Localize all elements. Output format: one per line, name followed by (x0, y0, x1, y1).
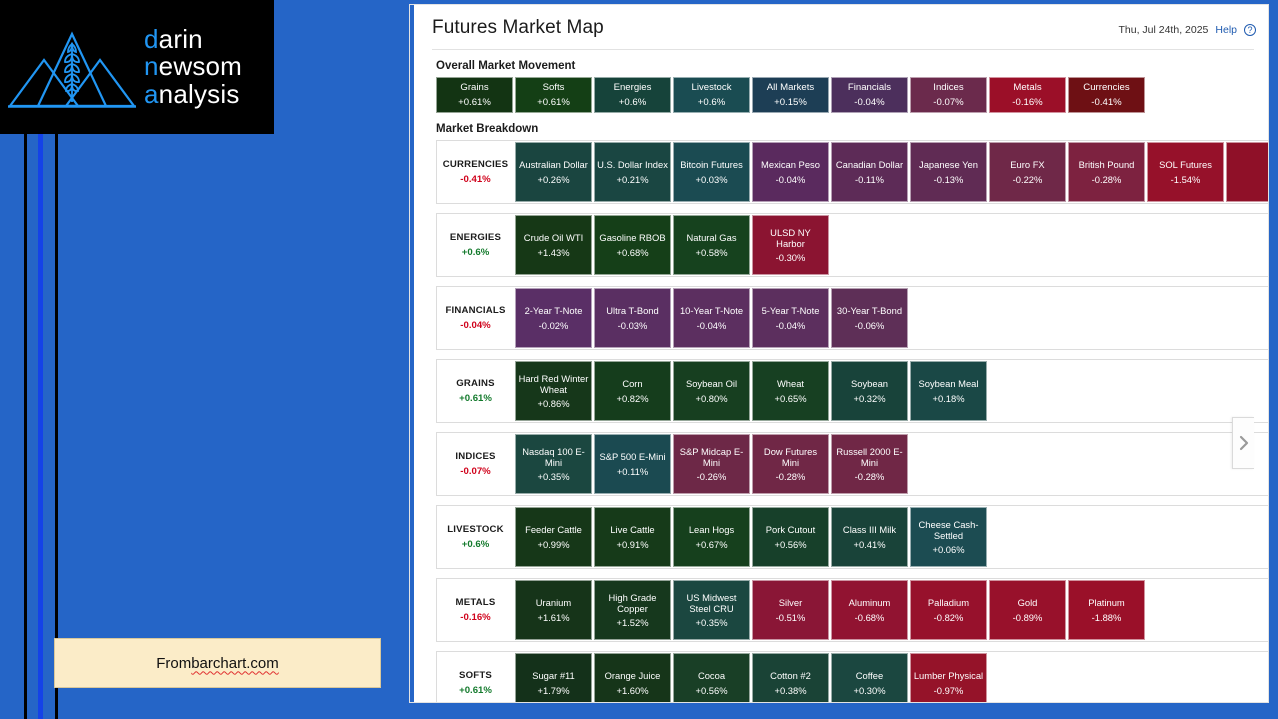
market-tile[interactable]: Silver-0.51% (752, 580, 829, 640)
tile-value: +0.56% (695, 685, 727, 696)
source-site-name: barchart.com (191, 655, 279, 672)
tile-value: +0.6% (698, 97, 725, 108)
market-tile[interactable]: Australian Dollar+0.26% (515, 142, 592, 202)
group-value: +0.61% (459, 685, 492, 697)
tile-value: +0.26% (537, 174, 569, 185)
market-tile[interactable]: Wheat+0.65% (752, 361, 829, 421)
tile-name: Nasdaq 100 E-Mini (518, 446, 589, 468)
brand-line-1-rest: arin (159, 24, 203, 54)
tile-value: -1.54% (1171, 174, 1201, 185)
tile-name: 10-Year T-Note (680, 305, 743, 316)
market-tile[interactable]: Crude Oil WTI+1.43% (515, 215, 592, 275)
page-header: Futures Market Map Thu, Jul 24th, 2025 H… (414, 5, 1268, 49)
market-tile[interactable]: Japanese Yen-0.13% (910, 142, 987, 202)
market-tile[interactable]: Mexican Peso-0.04% (752, 142, 829, 202)
tile-name: Silver (779, 597, 802, 608)
group-name: ENERGIES (450, 232, 501, 244)
breakdown-tiles: 2-Year T-Note-0.02%Ultra T-Bond-0.03%10-… (514, 287, 908, 349)
tile-name: All Markets (767, 82, 814, 93)
tile-name: 5-Year T-Note (762, 305, 820, 316)
market-tile[interactable]: S&P Midcap E-Mini-0.26% (673, 434, 750, 494)
tile-name: Live Cattle (610, 524, 654, 535)
tile-value: -0.04% (776, 174, 806, 185)
market-tile[interactable] (1226, 142, 1268, 202)
tile-name: Lumber Physical (914, 670, 983, 681)
group-name: GRAINS (456, 378, 495, 390)
tile-value: +0.86% (537, 398, 569, 409)
tile-name: Livestock (692, 82, 732, 93)
breakdown-tiles: Australian Dollar+0.26%U.S. Dollar Index… (514, 141, 1268, 203)
tile-name: Pork Cutout (766, 524, 816, 535)
market-tile[interactable]: Sugar #11+1.79% (515, 653, 592, 702)
tile-value: -0.02% (539, 320, 569, 331)
tile-value: +1.43% (537, 247, 569, 258)
tile-value: -0.26% (697, 471, 727, 482)
group-value: -0.41% (460, 174, 490, 186)
market-tile[interactable]: Ultra T-Bond-0.03% (594, 288, 671, 348)
tile-name: Metals (1013, 82, 1041, 93)
breakdown-group-header[interactable]: INDICES-0.07% (437, 433, 514, 495)
tile-value: -0.51% (776, 612, 806, 623)
overall-tile[interactable]: All Markets+0.15% (752, 77, 829, 113)
tile-name: Gasoline RBOB (599, 232, 665, 243)
market-tile[interactable]: U.S. Dollar Index+0.21% (594, 142, 671, 202)
tile-name: Indices (933, 82, 963, 93)
overall-market-label: Overall Market Movement (436, 60, 1268, 72)
breakdown-row: SOFTS+0.61%Sugar #11+1.79%Orange Juice+1… (436, 651, 1268, 702)
report-date: Thu, Jul 24th, 2025 (1118, 24, 1208, 36)
market-tile[interactable]: 10-Year T-Note-0.04% (673, 288, 750, 348)
group-value: -0.04% (460, 320, 490, 332)
tile-value: +1.79% (537, 685, 569, 696)
market-tile[interactable]: Corn+0.82% (594, 361, 671, 421)
tile-name: Ultra T-Bond (606, 305, 658, 316)
group-value: -0.16% (460, 612, 490, 624)
tile-name: SOL Futures (1159, 159, 1212, 170)
brand-wordmark: darin newsom analysis (144, 26, 242, 107)
tile-value: -0.13% (934, 174, 964, 185)
overall-market-row: Grains+0.61%Softs+0.61%Energies+0.6%Live… (436, 77, 1254, 113)
tile-value: +0.80% (695, 393, 727, 404)
tile-value: +0.41% (853, 539, 885, 550)
tile-value: -1.88% (1092, 612, 1122, 623)
market-tile[interactable]: 2-Year T-Note-0.02% (515, 288, 592, 348)
tile-value: -0.16% (1012, 97, 1042, 108)
tile-name: Cheese Cash-Settled (913, 519, 984, 541)
tile-name: Gold (1018, 597, 1038, 608)
tile-name: Natural Gas (686, 232, 736, 243)
tile-name: Coffee (856, 670, 883, 681)
market-tile[interactable]: Soybean+0.32% (831, 361, 908, 421)
group-name: METALS (456, 597, 496, 609)
group-value: +0.6% (462, 247, 489, 259)
market-tile[interactable]: Dow Futures Mini-0.28% (752, 434, 829, 494)
brand-line-3: analysis (144, 81, 242, 108)
market-tile[interactable]: Cotton #2+0.38% (752, 653, 829, 702)
market-tile[interactable]: Russell 2000 E-Mini-0.28% (831, 434, 908, 494)
tile-value: +0.32% (853, 393, 885, 404)
tile-value: -0.04% (776, 320, 806, 331)
brand-line-1-initial: d (144, 24, 159, 54)
source-attribution-box: From barchart.com (54, 638, 381, 688)
tile-name: Class III Milk (843, 524, 896, 535)
market-tile[interactable]: High Grade Copper+1.52% (594, 580, 671, 640)
market-tile[interactable]: British Pound-0.28% (1068, 142, 1145, 202)
breakdown-tiles: Nasdaq 100 E-Mini+0.35%S&P 500 E-Mini+0.… (514, 433, 908, 495)
futures-market-map-panel: Futures Market Map Thu, Jul 24th, 2025 H… (410, 5, 1268, 702)
tile-value: -0.41% (1091, 97, 1121, 108)
market-tile[interactable]: Feeder Cattle+0.99% (515, 507, 592, 567)
tile-value: +0.11% (617, 466, 648, 477)
tile-value: -0.22% (1013, 174, 1043, 185)
breakdown-tiles: Uranium+1.61%High Grade Copper+1.52%US M… (514, 579, 1145, 641)
tile-value: +1.52% (616, 617, 648, 628)
tile-name: Japanese Yen (919, 159, 978, 170)
tile-name: Grains (460, 82, 488, 93)
breakdown-tiles: Sugar #11+1.79%Orange Juice+1.60%Cocoa+0… (514, 652, 987, 702)
tile-value: -0.03% (618, 320, 648, 331)
tile-name: Hard Red Winter Wheat (518, 373, 589, 395)
tile-value: +0.65% (774, 393, 806, 404)
tile-value: +0.35% (695, 617, 727, 628)
breakdown-row: CURRENCIES-0.41%Australian Dollar+0.26%U… (436, 140, 1268, 204)
tile-name: Financials (848, 82, 891, 93)
brand-line-3-rest: nalysis (159, 79, 240, 109)
header-right-group: Thu, Jul 24th, 2025 Help ? (1118, 5, 1256, 36)
breakdown-row: METALS-0.16%Uranium+1.61%High Grade Copp… (436, 578, 1268, 642)
market-tile[interactable]: Class III Milk+0.41% (831, 507, 908, 567)
tile-name: Sugar #11 (532, 670, 575, 681)
tile-value: +0.38% (774, 685, 806, 696)
tile-name: US Midwest Steel CRU (676, 592, 747, 614)
market-tile[interactable]: Lumber Physical-0.97% (910, 653, 987, 702)
group-name: SOFTS (459, 670, 492, 682)
market-tile[interactable]: Gold-0.89% (989, 580, 1066, 640)
market-tile[interactable]: Platinum-1.88% (1068, 580, 1145, 640)
market-tile[interactable]: Bitcoin Futures+0.03% (673, 142, 750, 202)
help-link[interactable]: Help (1215, 24, 1237, 36)
tile-value: -0.30% (776, 252, 806, 263)
brand-line-3-initial: a (144, 79, 159, 109)
market-breakdown-label: Market Breakdown (436, 123, 1268, 135)
tile-value: +0.99% (537, 539, 569, 550)
market-tile[interactable]: Live Cattle+0.91% (594, 507, 671, 567)
tile-value: -0.04% (697, 320, 727, 331)
mountains-wheat-icon (4, 12, 140, 122)
tile-value: -0.28% (776, 471, 806, 482)
tile-value: -0.04% (854, 97, 884, 108)
tile-value: +1.60% (616, 685, 648, 696)
brand-line-2: newsom (144, 53, 242, 80)
market-tile[interactable]: Nasdaq 100 E-Mini+0.35% (515, 434, 592, 494)
market-tile[interactable]: US Midwest Steel CRU+0.35% (673, 580, 750, 640)
tile-name: Orange Juice (605, 670, 661, 681)
market-tile[interactable]: Canadian Dollar-0.11% (831, 142, 908, 202)
market-tile[interactable]: Pork Cutout+0.56% (752, 507, 829, 567)
market-tile[interactable]: ULSD NY Harbor-0.30% (752, 215, 829, 275)
market-tile[interactable]: Aluminum-0.68% (831, 580, 908, 640)
group-name: FINANCIALS (445, 305, 505, 317)
breakdown-tiles: Crude Oil WTI+1.43%Gasoline RBOB+0.68%Na… (514, 214, 829, 276)
tile-value: -0.68% (855, 612, 885, 623)
market-tile[interactable]: Lean Hogs+0.67% (673, 507, 750, 567)
slide-canvas: darin newsom analysis From barchart.com … (0, 0, 1278, 719)
breakdown-row: LIVESTOCK+0.6%Feeder Cattle+0.99%Live Ca… (436, 505, 1268, 569)
tile-value: +0.61% (537, 97, 570, 108)
tile-name: 2-Year T-Note (525, 305, 583, 316)
chevron-right-icon (1239, 435, 1249, 451)
breakdown-group-header[interactable]: FINANCIALS-0.04% (437, 287, 514, 349)
tile-value: +0.35% (537, 471, 569, 482)
market-tile[interactable]: 30-Year T-Bond-0.06% (831, 288, 908, 348)
source-prefix: From (156, 655, 191, 672)
group-value: +0.61% (459, 393, 492, 405)
tile-value: +0.6% (619, 97, 646, 108)
tile-name: Dow Futures Mini (755, 446, 826, 468)
tile-name: Russell 2000 E-Mini (834, 446, 905, 468)
breakdown-row: GRAINS+0.61%Hard Red Winter Wheat+0.86%C… (436, 359, 1268, 423)
overall-tile[interactable]: Livestock+0.6% (673, 77, 750, 113)
tile-value: +0.91% (616, 539, 648, 550)
help-icon[interactable]: ? (1244, 24, 1256, 36)
market-tile[interactable]: Cocoa+0.56% (673, 653, 750, 702)
group-name: CURRENCIES (443, 159, 508, 171)
tile-name: British Pound (1079, 159, 1135, 170)
tile-name: ULSD NY Harbor (755, 227, 826, 249)
market-tile[interactable]: Coffee+0.30% (831, 653, 908, 702)
header-divider (432, 49, 1254, 50)
breakdown-group-header[interactable]: SOFTS+0.61% (437, 652, 514, 702)
breakdown-tiles: Hard Red Winter Wheat+0.86%Corn+0.82%Soy… (514, 360, 987, 422)
breakdown-group-header[interactable]: GRAINS+0.61% (437, 360, 514, 422)
tile-value: +0.68% (616, 247, 648, 258)
tile-name: S&P Midcap E-Mini (676, 446, 747, 468)
market-tile[interactable]: Natural Gas+0.58% (673, 215, 750, 275)
overall-tile[interactable]: Currencies-0.41% (1068, 77, 1145, 113)
brand-line-2-rest-b: som (192, 51, 242, 81)
tile-name: Cotton #2 (770, 670, 811, 681)
tile-name: Uranium (536, 597, 571, 608)
tile-name: Lean Hogs (689, 524, 734, 535)
tile-name: Palladium (928, 597, 969, 608)
tile-name: Canadian Dollar (836, 159, 903, 170)
overall-tile[interactable]: Softs+0.61% (515, 77, 592, 113)
brand-line-2-rest-a: ew (159, 51, 193, 81)
brand-logo: darin newsom analysis (0, 0, 274, 134)
tile-value: +0.56% (774, 539, 806, 550)
tile-name: High Grade Copper (597, 592, 668, 614)
market-breakdown: CURRENCIES-0.41%Australian Dollar+0.26%U… (436, 140, 1268, 702)
tile-name: Euro FX (1010, 159, 1044, 170)
tile-name: Soybean Meal (919, 378, 979, 389)
market-tile[interactable]: 5-Year T-Note-0.04% (752, 288, 829, 348)
market-tile[interactable]: Palladium-0.82% (910, 580, 987, 640)
market-tile[interactable]: S&P 500 E-Mini+0.11% (594, 434, 671, 494)
tile-name: Feeder Cattle (525, 524, 582, 535)
tile-value: -0.28% (855, 471, 885, 482)
breakdown-group-header[interactable]: METALS-0.16% (437, 579, 514, 641)
group-value: +0.6% (462, 539, 489, 551)
tile-value: +1.61% (537, 612, 569, 623)
tile-name: Corn (622, 378, 642, 389)
breakdown-group-header[interactable]: LIVESTOCK+0.6% (437, 506, 514, 568)
tile-value: +0.58% (695, 247, 727, 258)
brand-line-1: darin (144, 26, 242, 53)
tile-value: +0.21% (616, 174, 648, 185)
tile-value: +0.30% (853, 685, 885, 696)
breakdown-row: FINANCIALS-0.04%2-Year T-Note-0.02%Ultra… (436, 286, 1268, 350)
tile-value: -0.06% (855, 320, 885, 331)
overall-tile[interactable]: Indices-0.07% (910, 77, 987, 113)
tile-value: +0.18% (932, 393, 964, 404)
market-tile[interactable]: Orange Juice+1.60% (594, 653, 671, 702)
tile-value: +0.06% (932, 544, 964, 555)
overall-market-wrap: Grains+0.61%Softs+0.61%Energies+0.6%Live… (436, 77, 1254, 113)
tile-value: +0.03% (695, 174, 727, 185)
overall-tile[interactable]: Grains+0.61% (436, 77, 513, 113)
market-tile[interactable]: Euro FX-0.22% (989, 142, 1066, 202)
tile-value: +0.67% (695, 539, 727, 550)
tile-name: Mexican Peso (761, 159, 820, 170)
tile-name: Wheat (777, 378, 804, 389)
breakdown-row: ENERGIES+0.6%Crude Oil WTI+1.43%Gasoline… (436, 213, 1268, 277)
tile-name: Soybean (851, 378, 888, 389)
market-tile[interactable]: Soybean Meal+0.18% (910, 361, 987, 421)
market-tile[interactable]: Soybean Oil+0.80% (673, 361, 750, 421)
tile-name: Platinum (1088, 597, 1124, 608)
group-name: INDICES (455, 451, 495, 463)
tile-name: Soybean Oil (686, 378, 737, 389)
group-name: LIVESTOCK (447, 524, 504, 536)
tile-name: Crude Oil WTI (524, 232, 583, 243)
tile-value: -0.97% (934, 685, 964, 696)
tile-value: -0.89% (1013, 612, 1043, 623)
tile-name: Aluminum (849, 597, 891, 608)
breakdown-row: INDICES-0.07%Nasdaq 100 E-Mini+0.35%S&P … (436, 432, 1268, 496)
group-value: -0.07% (460, 466, 490, 478)
market-tile[interactable]: Hard Red Winter Wheat+0.86% (515, 361, 592, 421)
tile-name: Energies (614, 82, 652, 93)
market-tile[interactable]: Gasoline RBOB+0.68% (594, 215, 671, 275)
overall-tile[interactable]: Energies+0.6% (594, 77, 671, 113)
tile-value: -0.28% (1092, 174, 1122, 185)
page-title: Futures Market Map (432, 5, 604, 39)
overall-tile[interactable]: Financials-0.04% (831, 77, 908, 113)
tile-value: -0.11% (855, 174, 884, 185)
brand-line-2-initial: n (144, 51, 159, 81)
breakdown-group-header[interactable]: ENERGIES+0.6% (437, 214, 514, 276)
scroll-right-button[interactable] (1232, 417, 1254, 469)
tile-value: +0.61% (458, 97, 491, 108)
tile-name: Softs (543, 82, 565, 93)
tile-name: Bitcoin Futures (680, 159, 743, 170)
tile-name: Australian Dollar (519, 159, 588, 170)
tile-name: U.S. Dollar Index (597, 159, 668, 170)
tile-name: Cocoa (698, 670, 725, 681)
tile-value: -0.07% (933, 97, 963, 108)
market-tile[interactable]: SOL Futures-1.54% (1147, 142, 1224, 202)
overall-tile[interactable]: Metals-0.16% (989, 77, 1066, 113)
tile-name: 30-Year T-Bond (837, 305, 902, 316)
tile-value: +0.15% (774, 97, 807, 108)
tile-value: +0.82% (616, 393, 648, 404)
breakdown-tiles: Feeder Cattle+0.99%Live Cattle+0.91%Lean… (514, 506, 987, 568)
market-tile[interactable]: Cheese Cash-Settled+0.06% (910, 507, 987, 567)
tile-name: S&P 500 E-Mini (599, 451, 665, 462)
tile-value: -0.82% (934, 612, 964, 623)
breakdown-group-header[interactable]: CURRENCIES-0.41% (437, 141, 514, 203)
market-tile[interactable]: Uranium+1.61% (515, 580, 592, 640)
tile-name: Currencies (1083, 82, 1129, 93)
